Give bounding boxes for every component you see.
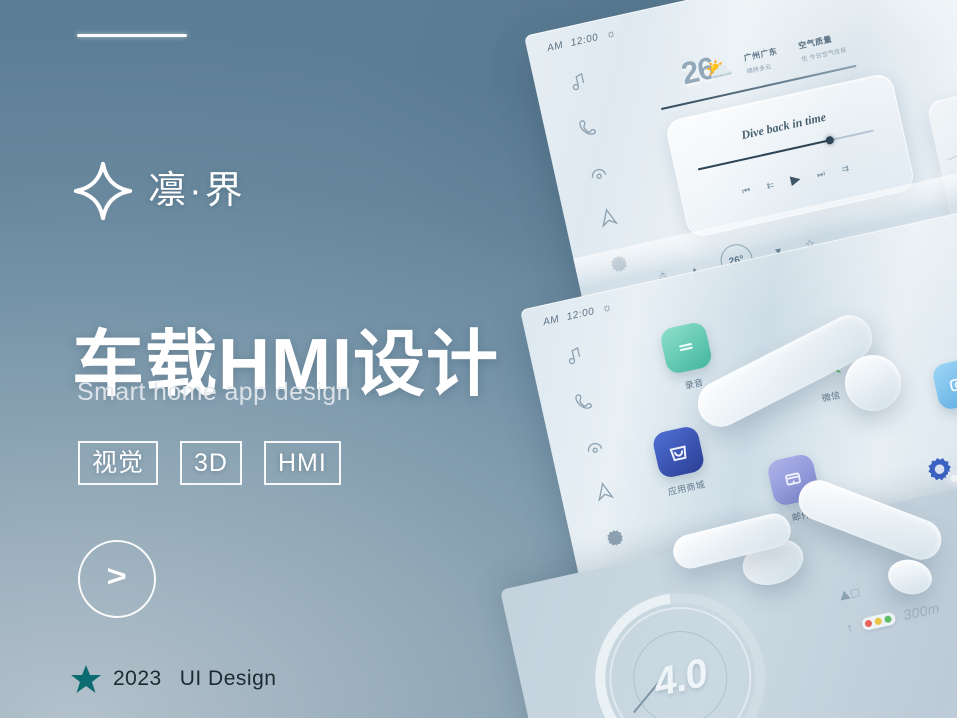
sidebar-item-settings[interactable] — [599, 520, 630, 551]
statusbar: AM 12:00 ☼ — [542, 301, 614, 328]
traffic-row: ↑ 300m — [845, 600, 941, 636]
speed-gauge: 4.0 1000r/min — [579, 577, 782, 718]
distance-to-turn: 300m — [902, 600, 941, 624]
weather-air-quality: 空气质量 优 今日空气优良 — [797, 31, 847, 63]
top-rule — [77, 34, 187, 37]
tag-hmi[interactable]: HMI — [264, 441, 341, 485]
poster-canvas: ◫250km ⇤30°C AM 12:00 ☼ — [0, 0, 957, 718]
forward-icon[interactable]: ⇉ — [840, 162, 850, 174]
statusbar-time: 12:00 — [570, 32, 600, 49]
statusbar-meridiem: AM — [542, 313, 560, 327]
tag-list[interactable]: 视觉 3D HMI — [78, 441, 341, 485]
star-icon — [70, 663, 102, 695]
tag-3d[interactable]: 3D — [180, 441, 242, 485]
sidebar-item-radio[interactable] — [583, 157, 614, 188]
statusbar: AM 12:00 ☼ — [546, 27, 618, 54]
footer-credit: 2023 UI Design — [70, 663, 276, 695]
sidebar-item-navigation[interactable] — [593, 202, 624, 233]
app-label: 应用商城 — [648, 473, 725, 502]
sun-cloud-icon: ⛅ — [703, 54, 735, 84]
brand-name: 凛·界 — [148, 172, 246, 210]
next-track-icon[interactable]: ⏭ — [816, 168, 826, 180]
camera-icon — [931, 356, 957, 411]
weather-temp-group: 26⛅ — [678, 46, 735, 92]
statusbar-meridiem: AM — [546, 39, 564, 53]
recorder-icon — [659, 321, 714, 376]
chevron-right-icon: > — [107, 560, 127, 594]
four-point-star-icon — [72, 160, 134, 222]
footer-label: UI Design — [180, 667, 277, 691]
traffic-light-icon — [860, 611, 896, 631]
decor-blob-1 — [845, 355, 901, 411]
sun-icon: ☼ — [605, 27, 618, 41]
arrow-up-icon: ↑ — [845, 619, 855, 635]
brand-lockup: 凛·界 — [72, 160, 246, 222]
sidebar-item-radio[interactable] — [579, 431, 610, 462]
app-tile-app-store[interactable]: 应用商城 — [636, 421, 724, 502]
sidebar-item-music[interactable] — [559, 341, 590, 372]
weather-location: 广州广东 晴转多云 — [743, 46, 781, 76]
gauge-value: 4.0 — [650, 650, 711, 705]
play-icon[interactable]: ▶ — [789, 171, 802, 189]
weather-meta: 广州广东 晴转多云 空气质量 优 今日空气优良 — [743, 31, 848, 76]
sidebar[interactable] — [553, 340, 646, 598]
app-store-icon — [651, 425, 706, 480]
footer-year: 2023 — [113, 667, 162, 691]
app-label: 相机 — [928, 405, 957, 434]
sun-icon: ☼ — [601, 301, 614, 315]
rewind-icon[interactable]: ⇇ — [765, 179, 775, 191]
sidebar-item-music[interactable] — [563, 67, 594, 98]
player-seek-knob[interactable] — [825, 136, 835, 146]
app-tile-camera[interactable]: 相机 — [916, 353, 957, 434]
sidebar-item-navigation[interactable] — [589, 476, 620, 507]
weather-widget[interactable]: 26⛅ 广州广东 晴转多云 空气质量 优 今日空气优良 — [678, 21, 848, 92]
prev-track-icon[interactable]: ⏮ — [741, 184, 751, 196]
sidebar-item-phone[interactable] — [569, 386, 600, 417]
tag-visual[interactable]: 视觉 — [78, 441, 158, 485]
page-subtitle: Smart home app design — [77, 378, 351, 407]
poster-left-column: 凛·界 车载HMI设计 Smart home app design 视觉 3D … — [0, 0, 520, 718]
sidebar-item-phone[interactable] — [573, 112, 604, 143]
statusbar-time: 12:00 — [566, 306, 596, 323]
next-arrow-button[interactable]: > — [78, 540, 156, 618]
